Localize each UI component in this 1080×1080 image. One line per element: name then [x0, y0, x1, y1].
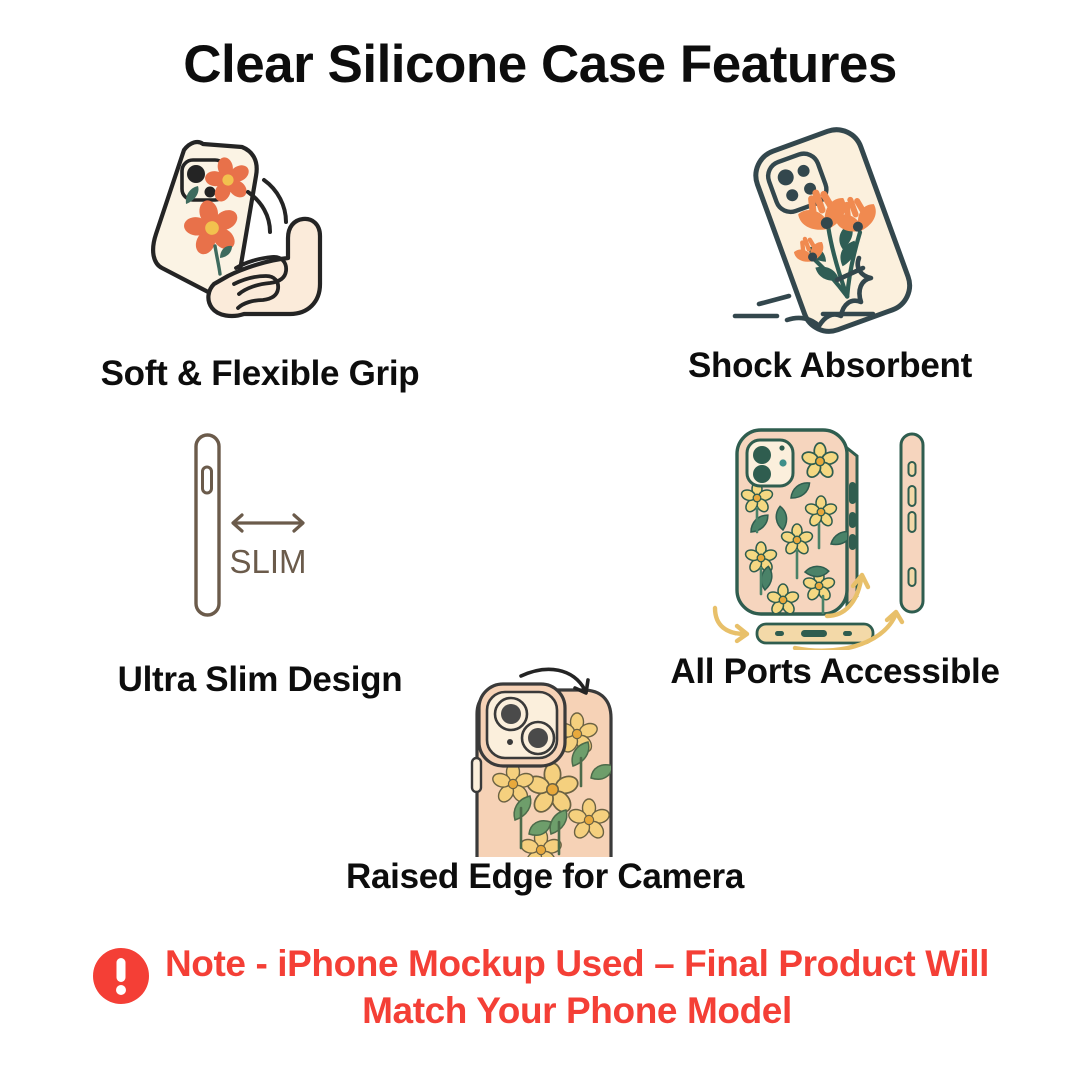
disclaimer-text: Note - iPhone Mockup Used – Final Produc… — [165, 940, 989, 1035]
feature-label-grip: Soft & Flexible Grip — [30, 354, 490, 394]
infographic-page: Clear Silicone Case Features — [0, 0, 1080, 1080]
feature-soft-flexible-grip: Soft & Flexible Grip — [30, 118, 490, 418]
phone-impact-burst-icon — [715, 118, 945, 348]
feature-label-shock: Shock Absorbent — [610, 346, 1050, 386]
disclaimer-line-1: Note - iPhone Mockup Used – Final Produc… — [165, 940, 989, 987]
phone-ports-cutouts-icon — [705, 420, 955, 655]
exclamation-circle-icon — [91, 946, 151, 1011]
camera-bump-raised-edge-icon — [455, 662, 645, 862]
feature-raised-edge-camera: Raised Edge for Camera — [295, 662, 795, 922]
slim-measure-label: SLIM — [229, 543, 306, 580]
disclaimer-line-2: Match Your Phone Model — [165, 987, 989, 1034]
page-title: Clear Silicone Case Features — [0, 34, 1080, 95]
feature-label-camera: Raised Edge for Camera — [295, 857, 795, 897]
disclaimer-note: Note - iPhone Mockup Used – Final Produc… — [0, 940, 1080, 1035]
hand-flexing-phone-case-icon — [140, 118, 380, 348]
phone-side-profile-slim-icon: SLIM — [180, 425, 350, 630]
feature-shock-absorbent: Shock Absorbent — [610, 118, 1050, 418]
